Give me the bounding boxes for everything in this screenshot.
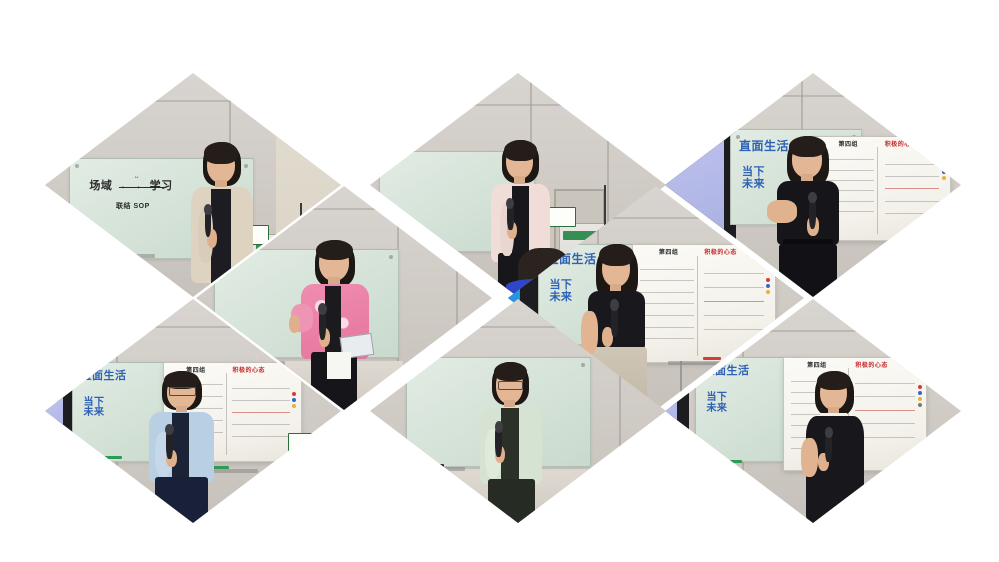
wall-seam-h [370, 104, 666, 106]
flipchart-title-right: 积极的心态 [855, 363, 888, 369]
flipchart-title-right: 积极的心态 [232, 368, 265, 374]
microphone-head [318, 303, 327, 315]
speaker-figure [471, 362, 560, 523]
flipchart-rule-red [704, 301, 764, 302]
flipchart-rule [232, 424, 289, 425]
hair [316, 240, 353, 260]
flipchart-rule [232, 436, 289, 437]
marker-tray [668, 361, 727, 365]
speaker-figure [795, 371, 884, 523]
sticker-dots [942, 164, 946, 180]
flipchart-rule [885, 176, 939, 177]
arrow-line [119, 187, 166, 188]
microphone-head [495, 421, 503, 432]
marker-tray [72, 254, 155, 258]
sticker-dots [766, 278, 770, 294]
projector-screen [45, 393, 63, 442]
wall-seam-h [665, 95, 961, 97]
marker-tray [417, 467, 464, 471]
inner-top [325, 286, 341, 361]
skirt [155, 477, 208, 523]
flipchart-rule [232, 400, 289, 401]
marker-dark [423, 464, 444, 467]
flipchart-rule [885, 164, 939, 165]
hair [789, 136, 826, 157]
nameplate [288, 433, 326, 455]
skirt [488, 479, 534, 523]
hair [504, 140, 537, 160]
hand-left [289, 315, 300, 334]
flipchart-divider [877, 147, 878, 234]
hair [164, 371, 199, 389]
flipchart-title-right: 积极的心态 [885, 142, 918, 148]
flipchart-rule [704, 287, 764, 288]
inner-dress [172, 413, 189, 483]
speaker-figure [140, 371, 235, 523]
sticker-dots [918, 385, 922, 407]
flipchart-rule-red [885, 188, 939, 189]
flipchart-rule [704, 329, 764, 330]
hair [204, 142, 238, 164]
glasses-icon [498, 381, 523, 389]
hair [599, 244, 634, 266]
marker-red [75, 251, 90, 254]
marker-blue [92, 251, 113, 254]
wall-seam-h [45, 100, 341, 102]
flipchart-rule [704, 315, 764, 316]
microphone-head [610, 299, 619, 311]
speaker-figure [763, 136, 864, 297]
sticker-dots [292, 392, 296, 408]
hair [494, 362, 527, 381]
flipchart-divider [697, 256, 698, 356]
marker-red [703, 357, 721, 360]
marker-green [724, 460, 742, 463]
photo-collage: 场域 ←→ 学习 联结 SOP ↔ [0, 0, 999, 562]
arm-left [581, 311, 598, 354]
arm-gesture [767, 200, 797, 223]
arm-left [801, 438, 819, 478]
marker-green-2 [104, 456, 122, 459]
flipchart-rule [704, 273, 764, 274]
microphone-head [825, 427, 833, 438]
flipchart-rule [885, 201, 939, 202]
flipchart-rule [232, 388, 289, 389]
glasses-icon [169, 387, 196, 395]
microphone-head [165, 424, 174, 435]
flipchart-title-right: 积极的心态 [704, 250, 737, 256]
hair [817, 371, 851, 391]
gooseneck-microphone [604, 185, 606, 225]
flipchart-rule [885, 213, 939, 214]
flipchart-rule-red [232, 412, 289, 413]
paper-sheet [327, 352, 351, 379]
flipchart-title-left: 第四组 [807, 363, 827, 369]
